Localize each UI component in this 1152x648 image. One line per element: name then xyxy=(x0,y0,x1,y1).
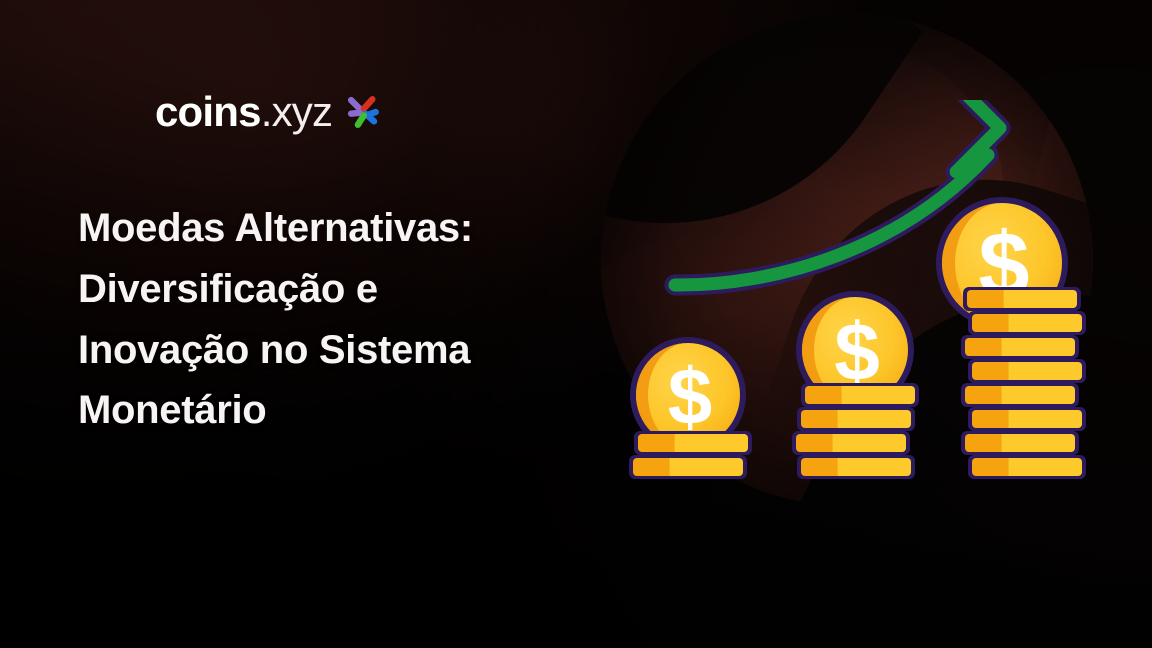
page-title: Moedas Alternativas: Diversificação e In… xyxy=(78,198,548,441)
coin-stacks-illustration: $ $ xyxy=(600,100,1120,520)
flat-coins-small xyxy=(629,431,752,479)
coin-stack-small: $ xyxy=(629,337,752,479)
banner-canvas: coins.xyz Moedas Alternativas: Diversifi… xyxy=(0,0,1152,648)
coin-stacks-svg: $ $ xyxy=(600,100,1120,520)
coin-stack-medium: $ xyxy=(792,291,919,479)
brand-wordmark: coins.xyz xyxy=(155,91,332,133)
brand-logo[interactable]: coins.xyz xyxy=(155,91,380,133)
coins-xyz-asterisk-mark-icon xyxy=(346,95,380,129)
flat-coins-large xyxy=(961,287,1086,479)
dollar-sign-small: $ xyxy=(668,352,713,441)
brand-wordmark-tld: .xyz xyxy=(261,88,332,135)
brand-wordmark-primary: coins xyxy=(155,88,261,135)
coin-stack-large: $ xyxy=(936,197,1086,479)
flat-coins-medium xyxy=(792,383,919,479)
